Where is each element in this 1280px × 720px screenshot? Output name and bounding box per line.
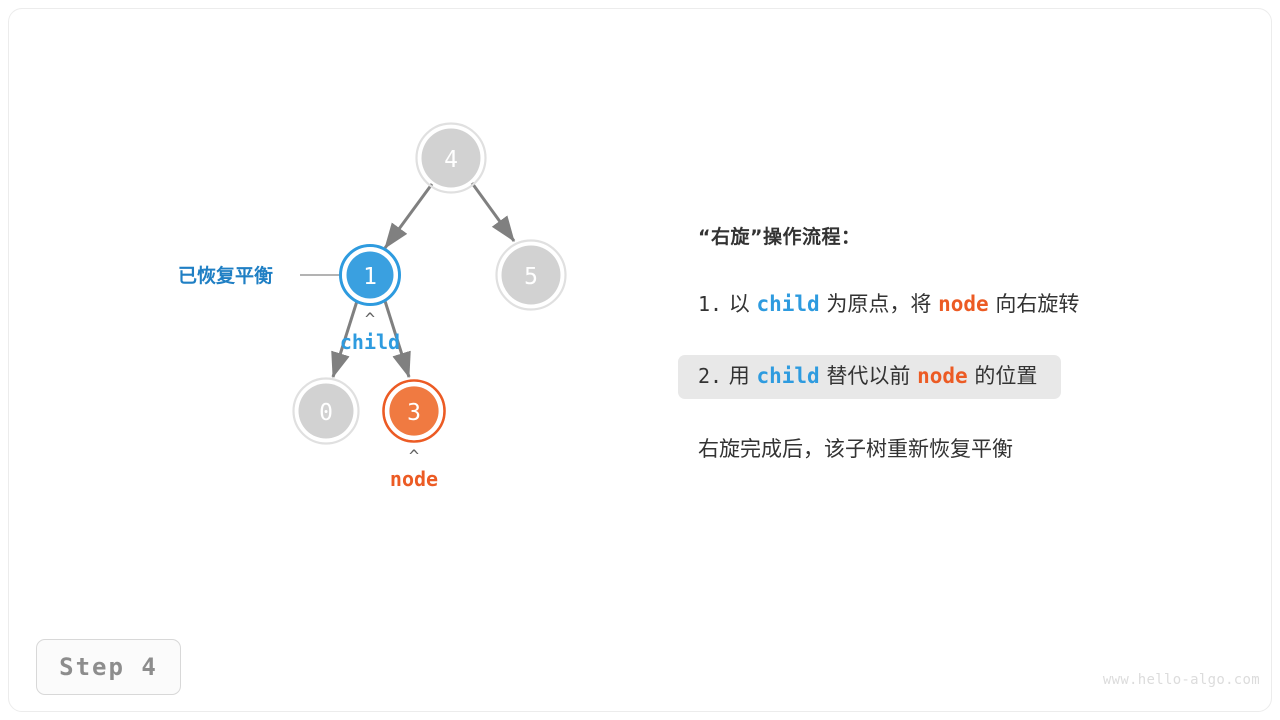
panel-note: 右旋完成后，该子树重新恢复平衡 [698,433,1218,463]
node-1-highlighted[interactable]: 1 [341,246,400,305]
child-caret-icon: ^ [365,310,375,330]
step-2-text-c: 的位置 [974,364,1037,388]
step-item-2: 2. 用 child 替代以前 node 的位置 [678,355,1061,399]
node-caret-icon: ^ [409,447,419,467]
node-5-value: 5 [524,264,538,290]
step-2-number: 2. [698,364,722,388]
node-0[interactable]: 0 [294,379,359,444]
child-label: child [340,330,400,354]
explanation-panel: “右旋”操作流程： 1. 以 child 为原点，将 node 向右旋转 2. … [698,222,1218,463]
step-1-text-b: 为原点，将 [826,292,931,316]
edge-4-5 [472,183,514,241]
step-1-number: 1. [698,292,722,316]
step-1-keyword-child: child [756,292,819,316]
node-label: node [390,467,438,491]
node-3-value: 3 [407,400,421,426]
node-0-value: 0 [319,400,333,426]
step-badge-label: Step 4 [59,653,158,681]
node-3-highlighted[interactable]: 3 [384,381,445,442]
annotation-label: 已恢复平衡 [178,264,273,287]
step-badge: Step 4 [36,639,181,695]
step-2-text-b: 替代以前 [826,364,910,388]
node-5[interactable]: 5 [497,241,566,310]
screenshot-root: 已恢复平衡 4 5 0 1 3 [0,0,1280,720]
step-item-1: 1. 以 child 为原点，将 node 向右旋转 [698,283,1079,327]
step-1-keyword-node: node [938,292,989,316]
node-4-value: 4 [444,147,458,173]
panel-title: “右旋”操作流程： [698,222,1218,249]
step-2-keyword-child: child [756,364,819,388]
pointer-node: ^ node [390,447,438,491]
watermark: www.hello-algo.com [1103,672,1260,688]
step-2-text-a: 用 [729,364,750,388]
step-1-text-a: 以 [729,292,750,316]
node-4[interactable]: 4 [417,124,486,193]
node-1-value: 1 [363,264,377,290]
step-1-text-c: 向右旋转 [995,292,1079,316]
step-2-keyword-node: node [917,364,968,388]
edge-4-1 [385,184,432,248]
